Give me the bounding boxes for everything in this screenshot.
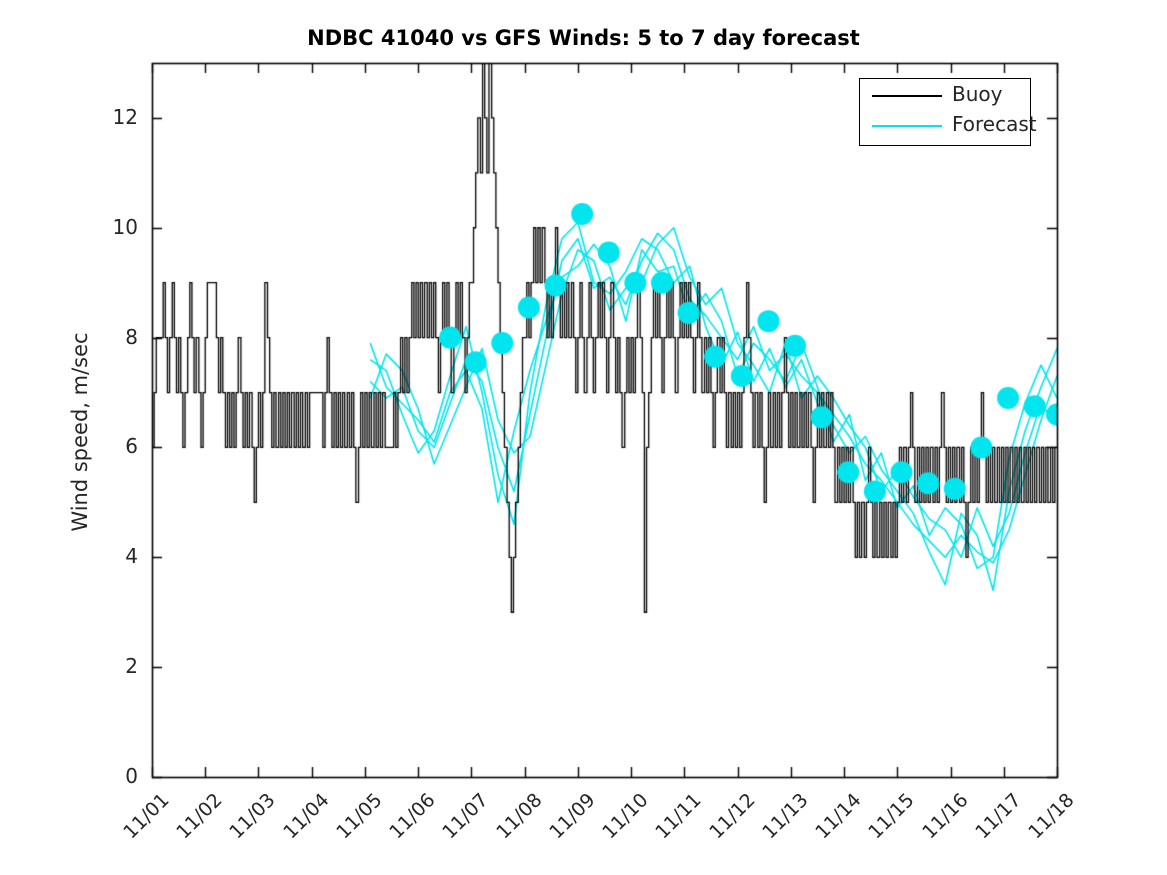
chart-figure: NDBC 41040 vs GFS Winds: 5 to 7 day fore… (0, 0, 1167, 875)
y-tick-label: 0 (68, 764, 138, 788)
legend-swatch-buoy (872, 95, 942, 97)
y-tick-label: 6 (68, 434, 138, 458)
y-tick-label: 2 (68, 654, 138, 678)
chart-legend[interactable]: Buoy Forecast (859, 78, 1031, 146)
legend-entry-buoy[interactable]: Buoy (860, 81, 1030, 111)
y-tick-label: 8 (68, 325, 138, 349)
legend-label-forecast: Forecast (952, 112, 1037, 136)
y-tick-label: 12 (68, 105, 138, 129)
y-tick-label: 4 (68, 544, 138, 568)
legend-entry-forecast[interactable]: Forecast (860, 111, 1030, 141)
legend-label-buoy: Buoy (952, 82, 1002, 106)
page-title: NDBC 41040 vs GFS Winds: 5 to 7 day fore… (0, 26, 1167, 50)
y-tick-label: 10 (68, 215, 138, 239)
legend-swatch-forecast (872, 125, 942, 127)
